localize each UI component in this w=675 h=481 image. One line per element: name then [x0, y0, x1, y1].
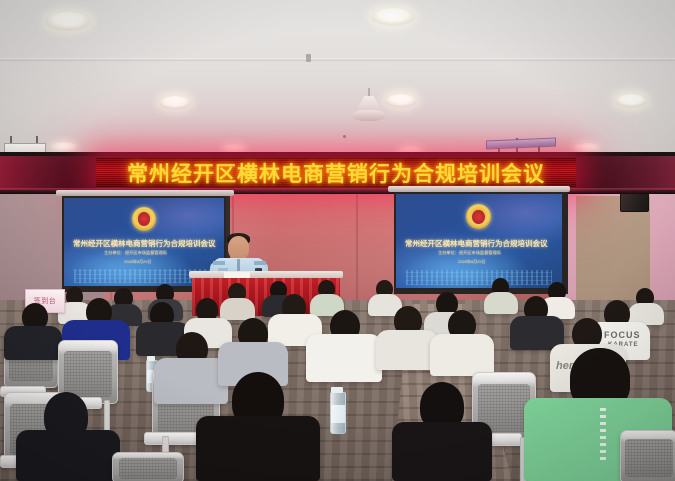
slide-footer-graphic [406, 270, 552, 285]
head-table-top [189, 271, 343, 278]
attendee-body [4, 326, 62, 360]
document-on-table [224, 272, 250, 278]
police-badge-emblem [132, 207, 156, 231]
led-glow-right [560, 156, 675, 190]
slide-title: 常州经开区横林电商营销行为合规培训会议 [73, 238, 216, 249]
attendee-long-hair [392, 422, 492, 481]
ceiling-downlight [372, 8, 414, 24]
attendee-body [430, 334, 494, 376]
slide-subtitle: 主办单位：经开区市场监督管理局 [104, 250, 167, 256]
ceiling-vent [306, 54, 311, 62]
attendee-long-hair [196, 416, 320, 481]
ceiling-downlight [160, 96, 190, 108]
ceiling-downlight [616, 94, 646, 106]
water-bottle[interactable] [330, 392, 346, 434]
chair-mesh-back [119, 458, 178, 479]
meeting-room-photo: 常州经开区横林电商营销行为合规培训会议 常州经开区横林电商营销行为合规培训会议 … [0, 0, 675, 481]
chair-mesh-back [625, 439, 672, 477]
attendee-body [484, 292, 518, 314]
slide-title: 常州经开区横林电商营销行为合规培训会议 [405, 238, 548, 249]
bottle-cap [147, 356, 155, 361]
led-glow-left [0, 156, 110, 190]
ceiling-step-edge [0, 58, 675, 61]
police-badge-emblem [466, 204, 491, 229]
slide-date: 2025年8月29日 [458, 259, 486, 265]
attendee-body [220, 298, 255, 320]
projection-screen-right: 常州经开区横林电商营销行为合规培训会议 主办单位：经开区市场监督管理局 2025… [394, 192, 568, 294]
led-banner-text: 常州经开区横林电商营销行为合规培训会议 [96, 158, 576, 187]
attendee-grey-shirt [154, 358, 228, 404]
ceiling-downlight [386, 94, 416, 106]
slide-date: 2025年8月29日 [124, 259, 152, 265]
chair-mesh-back [64, 351, 113, 397]
shirt-print-line1: FOCUS [604, 330, 641, 340]
attendee-body [376, 330, 438, 370]
shirt-print-motif [600, 408, 606, 462]
slide-subtitle: 主办单位：经开区市场监督管理局 [438, 250, 501, 256]
speaker-epaulette [213, 261, 225, 265]
led-banner: 常州经开区横林电商营销行为合规培训会议 [96, 158, 576, 187]
training-chair[interactable] [620, 430, 675, 481]
speaker-epaulette [254, 261, 266, 265]
chair-tablet-desk[interactable] [144, 432, 202, 445]
attendee-white-vest [306, 334, 382, 382]
bottle-label [331, 405, 345, 423]
training-chair[interactable] [112, 452, 184, 481]
attendee-long-hair [16, 430, 120, 481]
ceiling-downlight [46, 12, 90, 29]
bottle-cap [331, 387, 343, 393]
